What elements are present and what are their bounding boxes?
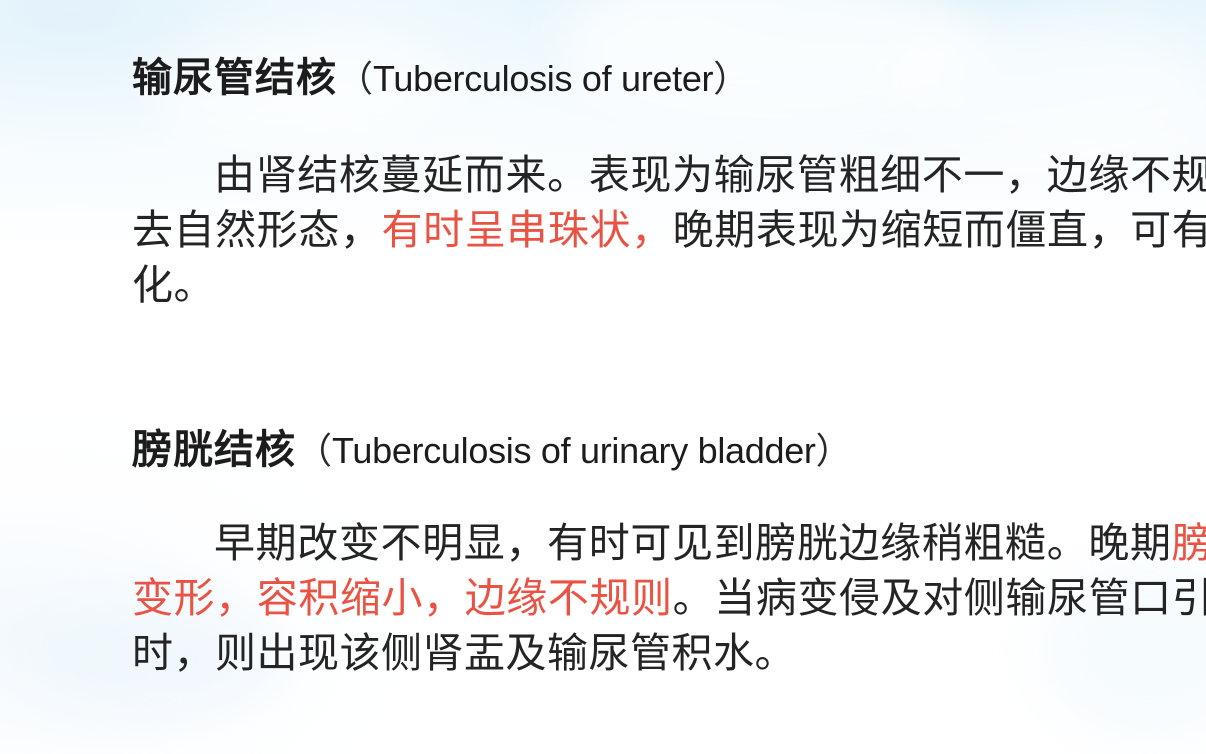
- heading-ureter-chinese: 输尿管结核: [132, 56, 337, 100]
- heading-bladder-english: Tuberculosis of urinary bladder: [332, 430, 816, 471]
- paragraph-bladder: 早期改变不明显，有时可见到膀胱边缘稍粗糙。晚期膀胱挛缩变形，容积缩小，边缘不规则…: [0, 516, 1206, 681]
- section-bladder: 膀胱结核（Tuberculosis of urinary bladder） 早期…: [0, 424, 1206, 477]
- run-ureter-1-highlight: 有时呈串珠状，: [382, 207, 673, 253]
- heading-ureter: 输尿管结核（Tuberculosis of ureter）: [0, 52, 1206, 105]
- heading-bladder-close-paren: ）: [816, 430, 852, 471]
- section-ureter: 输尿管结核（Tuberculosis of ureter） 由肾结核蔓延而来。表…: [0, 52, 1206, 105]
- paragraph-ureter: 由肾结核蔓延而来。表现为输尿管粗细不一，边缘不规则，失去自然形态，有时呈串珠状，…: [0, 148, 1206, 313]
- heading-bladder-open-paren: （: [296, 430, 332, 471]
- heading-bladder-chinese: 膀胱结核: [132, 428, 296, 472]
- heading-ureter-open-paren: （: [337, 58, 373, 99]
- heading-ureter-english: Tuberculosis of ureter: [373, 58, 713, 99]
- run-bladder-0: 早期改变不明显，有时可见到膀胱边缘稍粗糙。晚期: [214, 520, 1172, 566]
- heading-bladder: 膀胱结核（Tuberculosis of urinary bladder）: [0, 424, 1206, 477]
- heading-ureter-close-paren: ）: [713, 58, 749, 99]
- slide-content: 输尿管结核（Tuberculosis of ureter） 由肾结核蔓延而来。表…: [0, 0, 1206, 754]
- slide-canvas: 输尿管结核（Tuberculosis of ureter） 由肾结核蔓延而来。表…: [0, 0, 1206, 754]
